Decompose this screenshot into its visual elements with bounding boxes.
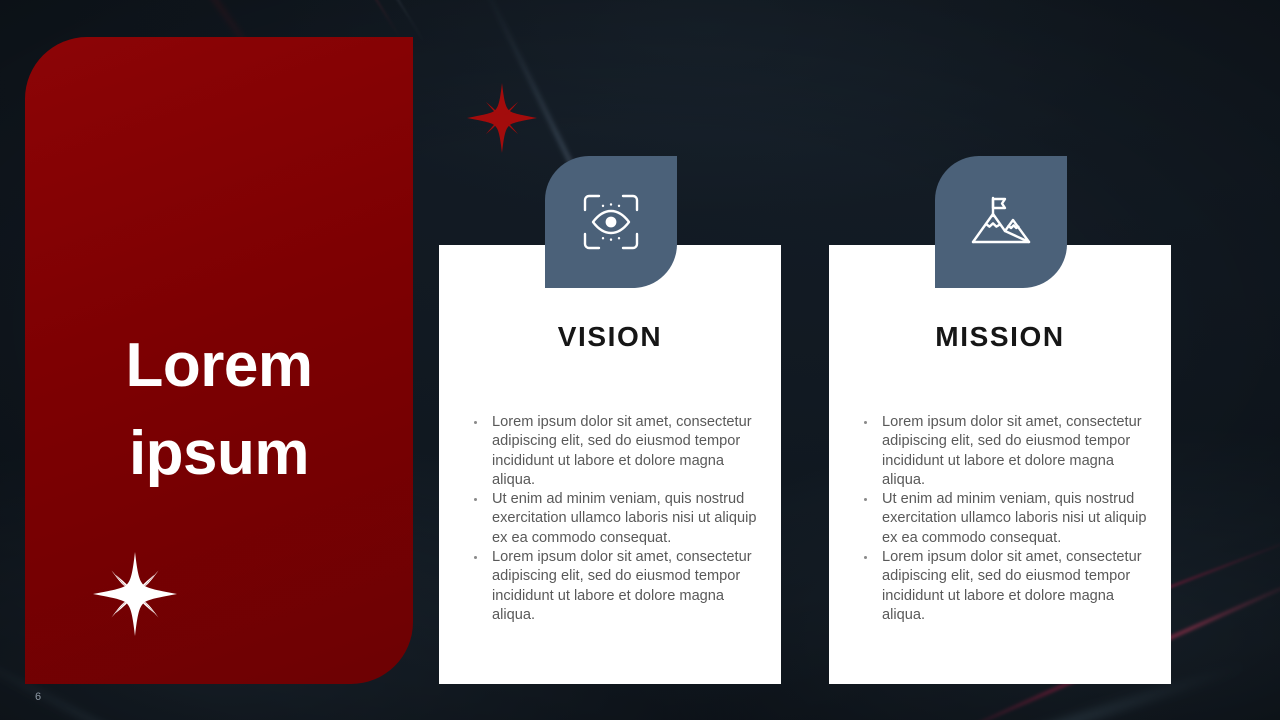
four-point-sparkle-icon <box>93 549 177 639</box>
card-heading-vision: VISION <box>439 321 781 353</box>
icon-badge-vision <box>545 156 677 288</box>
list-item: Ut enim ad minim veniam, quis nostrud ex… <box>855 490 1151 548</box>
card-body-mission: Lorem ipsum dolor sit amet, consectetur … <box>855 413 1151 625</box>
list-item: Lorem ipsum dolor sit amet, consectetur … <box>465 548 761 625</box>
four-point-sparkle-icon <box>467 80 537 156</box>
light-streak-top-left-red <box>177 0 402 40</box>
bullet-list-vision: Lorem ipsum dolor sit amet, consectetur … <box>465 413 761 625</box>
card-body-vision: Lorem ipsum dolor sit amet, consectetur … <box>465 413 761 625</box>
icon-badge-mission <box>935 156 1067 288</box>
eye-scan-icon <box>579 190 643 254</box>
list-item: Lorem ipsum dolor sit amet, consectetur … <box>855 413 1151 490</box>
card-mission: MISSION Lorem ipsum dolor sit amet, cons… <box>829 245 1171 684</box>
card-vision: VISION Lorem ipsum dolor sit amet, conse… <box>439 245 781 684</box>
title-panel: Lorem ipsum <box>25 37 413 684</box>
list-item: Lorem ipsum dolor sit amet, consectetur … <box>855 548 1151 625</box>
list-item: Ut enim ad minim veniam, quis nostrud ex… <box>465 490 761 548</box>
card-heading-mission: MISSION <box>829 321 1171 353</box>
slide: Lorem ipsum 6 VISION Lorem ipsum dolor s… <box>0 0 1280 720</box>
slide-number: 6 <box>35 691 41 703</box>
mountain-flag-icon <box>969 190 1033 254</box>
bullet-list-mission: Lorem ipsum dolor sit amet, consectetur … <box>855 413 1151 625</box>
list-item: Lorem ipsum dolor sit amet, consectetur … <box>465 413 761 490</box>
page-title: Lorem ipsum <box>25 322 413 498</box>
